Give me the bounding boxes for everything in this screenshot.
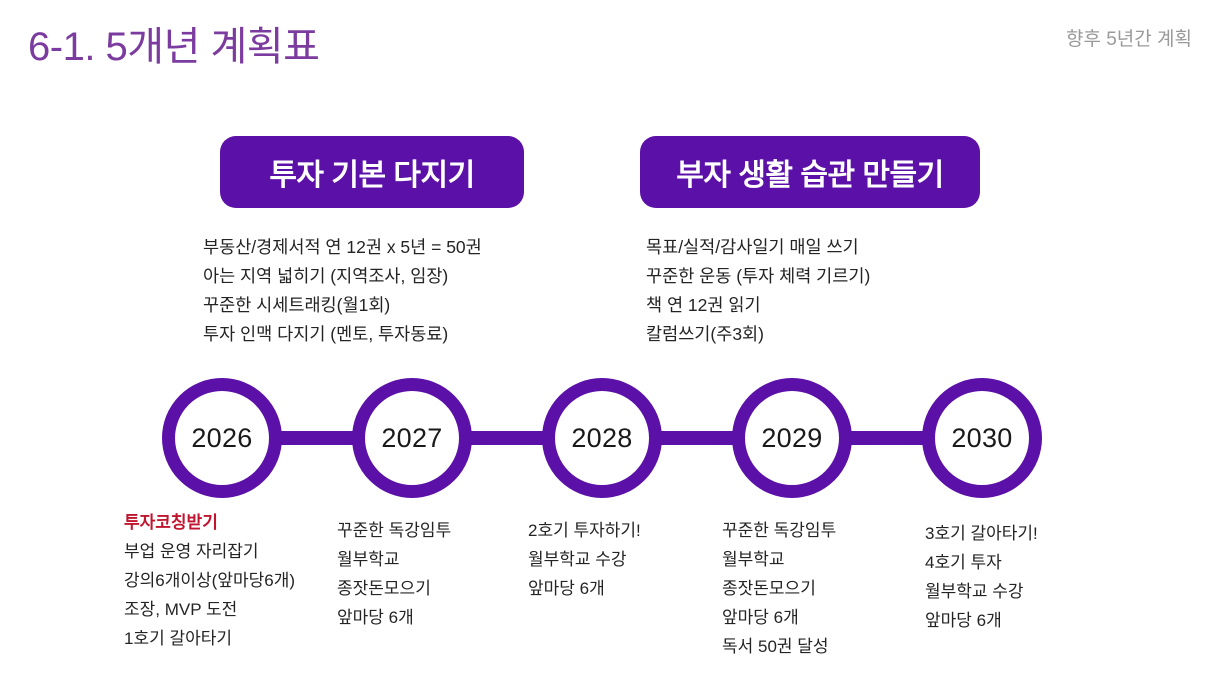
timeline-node-year: 2027 [381,423,442,454]
year-plan-2029: 꾸준한 독강임투 월부학교 종잣돈모으기 앞마당 6개 독서 50권 달성 [722,516,836,661]
year-plan-item: 월부학교 수강 [528,545,641,574]
page-title: 6-1. 5개년 계획표 [28,14,319,72]
year-plan-item: 꾸준한 독강임투 [722,516,836,545]
year-plan-item: 앞마당 6개 [925,606,1038,635]
timeline-node-2029[interactable]: 2029 [732,378,852,498]
year-plan-item: 월부학교 수강 [925,577,1038,606]
year-plan-item: 앞마당 6개 [337,603,451,632]
theme-items-investment-basics: 부동산/경제서적 연 12권 x 5년 = 50권 아는 지역 넓히기 (지역조… [203,233,482,349]
timeline-node-2027[interactable]: 2027 [352,378,472,498]
timeline-node-2028[interactable]: 2028 [542,378,662,498]
year-plan-headline: 투자코칭받기 [124,508,295,537]
year-plan-item: 2호기 투자하기! [528,516,641,545]
year-plan-item: 3호기 갈아타기! [925,519,1038,548]
year-plan-item: 종잣돈모으기 [337,574,451,603]
year-plan-item: 부업 운영 자리잡기 [124,537,295,566]
year-plan-item: 독서 50권 달성 [722,632,836,661]
timeline-node-year: 2028 [571,423,632,454]
year-plan-2030: 3호기 갈아타기! 4호기 투자 월부학교 수강 앞마당 6개 [925,519,1038,635]
year-plan-item: 1호기 갈아타기 [124,624,295,653]
year-plan-item: 4호기 투자 [925,548,1038,577]
theme-pill-rich-habits[interactable]: 부자 생활 습관 만들기 [640,136,980,208]
year-plan-item: 조장, MVP 도전 [124,595,295,624]
year-plan-item: 월부학교 [337,545,451,574]
timeline-node-2026[interactable]: 2026 [162,378,282,498]
theme-items-rich-habits: 목표/실적/감사일기 매일 쓰기 꾸준한 운동 (투자 체력 기르기) 책 연 … [646,233,870,349]
timeline-node-year: 2030 [951,423,1012,454]
theme-item: 목표/실적/감사일기 매일 쓰기 [646,233,870,262]
timeline-node-2030[interactable]: 2030 [922,378,1042,498]
theme-item: 아는 지역 넓히기 (지역조사, 임장) [203,262,482,291]
theme-pill-label: 부자 생활 습관 만들기 [676,150,943,194]
year-plan-item: 월부학교 [722,545,836,574]
theme-item: 부동산/경제서적 연 12권 x 5년 = 50권 [203,233,482,262]
timeline: 2026 2027 2028 2029 2030 [0,378,1216,498]
year-plan-item: 꾸준한 독강임투 [337,516,451,545]
header-subtitle: 향후 5년간 계획 [1066,24,1192,51]
theme-item: 꾸준한 운동 (투자 체력 기르기) [646,262,870,291]
theme-item: 책 연 12권 읽기 [646,291,870,320]
year-plan-item: 앞마당 6개 [722,603,836,632]
timeline-node-year: 2026 [191,423,252,454]
year-plan-2027: 꾸준한 독강임투 월부학교 종잣돈모으기 앞마당 6개 [337,516,451,632]
theme-pill-label: 투자 기본 다지기 [269,150,474,194]
theme-item: 꾸준한 시세트래킹(월1회) [203,291,482,320]
year-plan-item: 강의6개이상(앞마당6개) [124,566,295,595]
year-plan-item: 앞마당 6개 [528,574,641,603]
theme-pill-investment-basics[interactable]: 투자 기본 다지기 [220,136,524,208]
theme-item: 투자 인맥 다지기 (멘토, 투자동료) [203,320,482,349]
year-plan-item: 종잣돈모으기 [722,574,836,603]
theme-item: 칼럼쓰기(주3회) [646,320,870,349]
year-plan-2028: 2호기 투자하기! 월부학교 수강 앞마당 6개 [528,516,641,603]
year-plan-2026: 투자코칭받기 부업 운영 자리잡기 강의6개이상(앞마당6개) 조장, MVP … [124,508,295,653]
timeline-node-year: 2029 [761,423,822,454]
